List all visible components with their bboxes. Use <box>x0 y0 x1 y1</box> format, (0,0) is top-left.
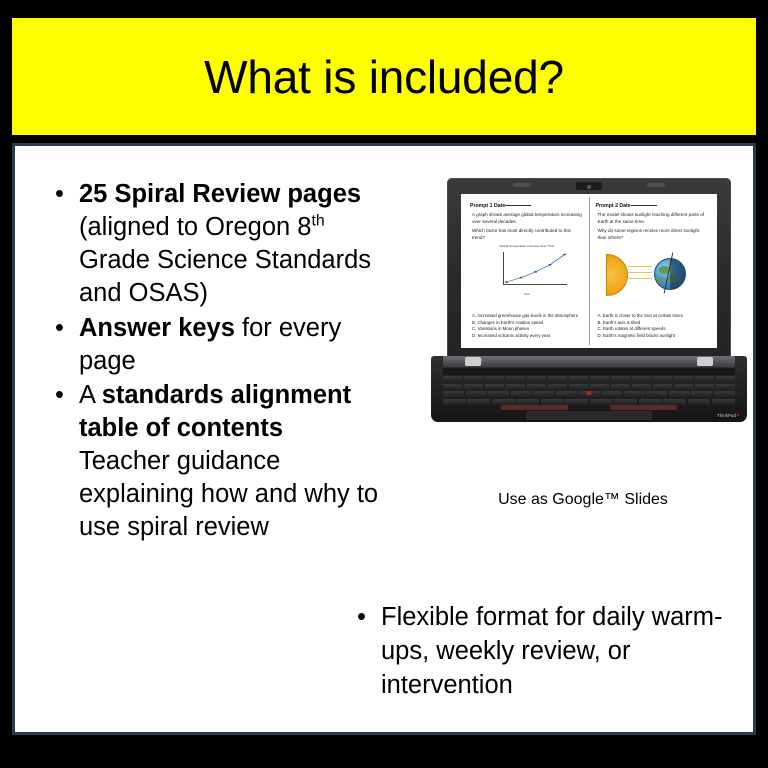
key-row <box>443 399 735 405</box>
prompt-1-question-line-1: A graph shows average global temperature… <box>472 212 584 226</box>
thinkpad-logo: ThinkPad <box>717 413 739 418</box>
chart-x-axis-label: Year <box>481 292 573 296</box>
laptop-caption: Use as Google™ Slides <box>413 491 753 509</box>
bullet-glyph: • <box>55 178 64 211</box>
list-item: •25 Spiral Review pages (aligned to Oreg… <box>35 178 395 311</box>
bullet-bold-lead: Answer keys <box>79 314 235 342</box>
option-b: B. Earth's axis is tilted <box>598 320 711 327</box>
keyboard <box>443 376 735 404</box>
date-blank-line <box>631 205 657 206</box>
laptop-screen: Prompt 1 Date A graph shows average glob… <box>461 194 717 348</box>
hinge-bar: lenovo <box>443 356 735 367</box>
hinge-nub-right <box>697 357 713 366</box>
chart-title: Global Temperature Increase Over Time <box>481 244 573 248</box>
lid-latch-right <box>647 183 665 187</box>
touchpad <box>526 411 653 420</box>
bullet-text: Flexible format for daily warm-ups, week… <box>381 603 723 699</box>
lid-latch-left <box>513 183 531 187</box>
option-d: D. Earth's magnetic field blocks sunligh… <box>598 333 711 340</box>
prompt-2-question-line-1: The model shows sunlight reaching differ… <box>598 212 710 226</box>
bullet-glyph: • <box>55 379 64 412</box>
ordinal-suffix: th <box>312 213 325 230</box>
worksheet-slide: Prompt 1 Date A graph shows average glob… <box>464 197 714 345</box>
bullet-continuation-text: Teacher guidance explaining how and why … <box>79 445 395 544</box>
laptop-device: Prompt 1 Date A graph shows average glob… <box>431 178 747 428</box>
option-d: D. Increased volcanic activity every yea… <box>472 333 585 340</box>
prompt-2-options: A. Earth is closer to the Sun at certain… <box>598 313 711 340</box>
prompt-1-heading-text: Prompt 1 Date <box>470 203 505 209</box>
chart-line-series <box>504 252 567 284</box>
list-item: •Answer keys for every page <box>35 312 395 378</box>
key-row <box>443 376 735 382</box>
prompt-1-panel: Prompt 1 Date A graph shows average glob… <box>464 197 590 345</box>
right-bullet-list: •Flexible format for daily warm-ups, wee… <box>345 601 735 703</box>
bullet-glyph: • <box>55 312 64 345</box>
thinkpad-logo-dot <box>737 414 740 417</box>
sunlight-ray <box>628 272 652 273</box>
sun-icon <box>606 254 628 296</box>
webcam-icon <box>576 182 602 190</box>
thinkpad-logo-text: ThinkPad <box>717 413 736 418</box>
laptop-base: lenovo <box>431 356 747 422</box>
function-key-strip <box>443 368 735 375</box>
touchpad-button-right <box>610 405 677 410</box>
option-a: A. Earth is closer to the Sun at certain… <box>598 313 711 320</box>
key-row <box>443 384 735 390</box>
sun-earth-diagram <box>596 246 710 302</box>
laptop-lid: Prompt 1 Date A graph shows average glob… <box>447 178 731 360</box>
bullet-text-pre: (aligned to Oregon 8 <box>79 213 312 241</box>
laptop-illustration: Prompt 1 Date A graph shows average glob… <box>413 178 753 478</box>
bullet-plain-lead: A <box>79 381 102 409</box>
hinge-nub-left <box>465 357 481 366</box>
prompt-2-heading: Prompt 2 Date <box>596 203 710 209</box>
prompt-1-options: A. Increased greenhouse gas levels in th… <box>472 313 585 340</box>
chart-plot-area <box>503 252 567 285</box>
sunlight-ray <box>628 278 652 279</box>
touchpad-button-left <box>501 405 568 410</box>
prompt-2-heading-text: Prompt 2 Date <box>596 203 631 209</box>
option-b: B. Changes in Earth's rotation speed <box>472 320 585 327</box>
option-c: C. Earth rotates at different speeds <box>598 326 711 333</box>
temperature-line-chart: Global Temperature Increase Over Time <box>481 244 573 296</box>
slide-root: What is included? •25 Spiral Review page… <box>0 0 768 768</box>
option-c: C. Variations in Moon phases <box>472 326 585 333</box>
right-bullet-column: •Flexible format for daily warm-ups, wee… <box>345 601 735 703</box>
sunlight-ray <box>628 266 652 267</box>
prompt-1-question-line-2: Which factor has most directly contribut… <box>472 228 584 242</box>
title-banner: What is included? <box>12 18 756 135</box>
prompt-1-heading: Prompt 1 Date <box>470 203 584 209</box>
prompt-2-panel: Prompt 2 Date The model shows sunlight r… <box>590 197 715 345</box>
list-item: •Flexible format for daily warm-ups, wee… <box>345 601 735 703</box>
bullet-glyph: • <box>357 601 366 635</box>
left-bullet-column: •25 Spiral Review pages (aligned to Oreg… <box>35 178 395 546</box>
option-a: A. Increased greenhouse gas levels in th… <box>472 313 585 320</box>
left-bullet-list: •25 Spiral Review pages (aligned to Oreg… <box>35 178 395 545</box>
date-blank-line <box>505 205 531 206</box>
page-title: What is included? <box>204 54 564 100</box>
touchpad-area <box>501 405 677 420</box>
trackpoint-nub <box>587 391 592 395</box>
bullet-text-post: Grade Science Standards and OSAS) <box>79 246 371 307</box>
bullet-bold-lead: 25 Spiral Review pages <box>79 180 361 208</box>
bullet-bold-lead: standards alignment table of contents <box>79 381 351 442</box>
list-item: •A standards alignment table of contents… <box>35 379 395 545</box>
prompt-2-question-line-2: Why do some regions receive more direct … <box>598 228 710 242</box>
slide-body-panel: •25 Spiral Review pages (aligned to Oreg… <box>12 143 756 735</box>
